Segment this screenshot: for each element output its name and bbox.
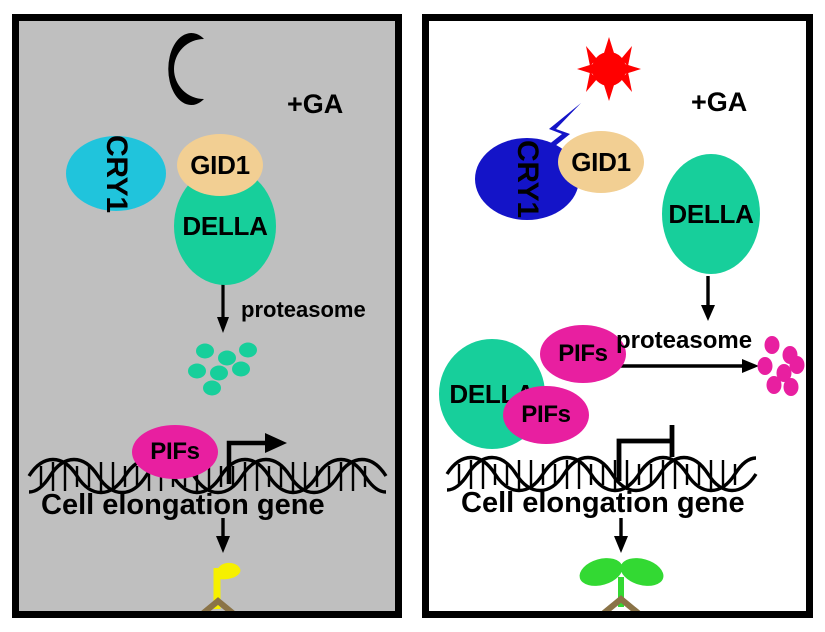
protein-blob-cry1: CRY1 (66, 136, 166, 211)
gene-to-phenotype-arrow-dark (216, 518, 230, 553)
protein-blob-gid1: GID1 (177, 134, 263, 196)
protein-label-della: DELLA (668, 199, 753, 230)
sun-icon (577, 37, 641, 101)
gene-to-phenotype-arrow-light (614, 518, 628, 553)
protein-blob-pifs: PIFs (132, 425, 218, 479)
light-panel-graphics (429, 21, 806, 611)
gene-label: Cell elongation gene (461, 487, 745, 520)
protein-label-cry1: CRY1 (510, 140, 544, 218)
light-panel: CRY1 GID1 DELLA DELLA PIFs PIFs +GA prot… (422, 14, 813, 618)
protein-blob-pifs-1: PIFs (540, 325, 626, 383)
proteasome-label: proteasome (616, 327, 752, 355)
darkness-panel: CRY1 DELLA GID1 PIFs +GA proteasome Cell… (12, 14, 402, 618)
protein-label-pifs-2: PIFs (521, 401, 570, 429)
proteasome-label: proteasome (241, 297, 366, 323)
hormone-label-ga: +GA (691, 87, 747, 118)
della-fragments-dark (188, 343, 257, 396)
protein-label-della: DELLA (182, 211, 267, 242)
protein-label-gid1: GID1 (190, 150, 249, 181)
protein-label-pifs-1: PIFs (558, 340, 607, 368)
protein-blob-della: DELLA (662, 154, 760, 274)
protein-label-cry1: CRY1 (99, 135, 133, 213)
gene-label: Cell elongation gene (41, 489, 325, 522)
etiolated-seedling-icon (201, 563, 240, 611)
dna-helix-light (447, 458, 756, 491)
protein-label-gid1: GID1 (571, 147, 630, 178)
proteasome-arrow-light (701, 276, 715, 321)
transcription-activation-arrow (229, 433, 287, 484)
protein-label-pifs: PIFs (150, 438, 199, 466)
protein-blob-pifs-2: PIFs (503, 386, 589, 444)
hormone-label-ga: +GA (287, 89, 343, 120)
transcription-inhibition-bar (619, 425, 672, 481)
crescent-moon-icon (168, 33, 204, 105)
green-seedling-icon (576, 553, 666, 611)
proteasome-arrow-dark (217, 283, 229, 333)
protein-blob-gid1: GID1 (558, 131, 644, 193)
pifs-fragments-light (758, 336, 805, 396)
figure-canvas: CRY1 DELLA GID1 PIFs +GA proteasome Cell… (0, 0, 825, 632)
